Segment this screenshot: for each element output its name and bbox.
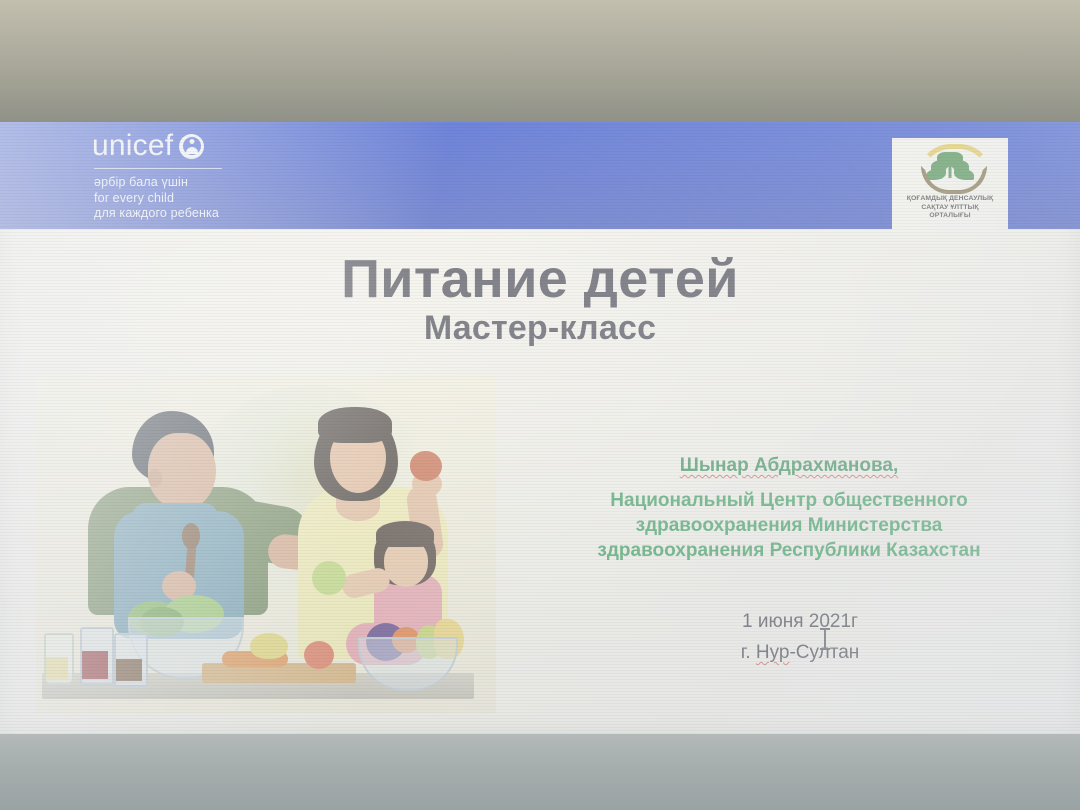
- date-line-wrap: 1 июня 2021г: [600, 608, 1000, 635]
- presentation-slide[interactable]: unicef әрбір бала үшін for every child д…: [0, 122, 1080, 734]
- city-name-misspelled: Нур: [756, 642, 790, 663]
- family-cooking-illustration: [36, 375, 496, 713]
- wall-above-screen: [0, 0, 1080, 126]
- slide-header-band: unicef әрбір бала үшін for every child д…: [0, 122, 1080, 229]
- author-affiliation: Национальный Центр общественного здравоо…: [546, 488, 1032, 563]
- photographed-screen-scene: unicef әрбір бала үшін for every child д…: [0, 0, 1080, 810]
- partner-logo-line2: САҚТАУ ҰЛТТЫҚ: [895, 204, 1005, 213]
- affiliation-line-3: здравоохранения Республики Казахстан: [546, 538, 1032, 563]
- presentation-city: г. Нур-Султан: [600, 639, 1000, 666]
- unicef-divider-rule: [94, 168, 222, 169]
- author-name: Шынар Абдрахманова,: [680, 454, 899, 478]
- slide-title: Питание детей: [0, 250, 1080, 308]
- presentation-date: 1 июня 2021г: [742, 608, 858, 635]
- desk-below-screen: [0, 728, 1080, 810]
- affiliation-line-2: здравоохранения Министерства: [546, 513, 1032, 538]
- author-block: Шынар Абдрахманова, Национальный Центр о…: [546, 454, 1032, 563]
- city-prefix: г.: [741, 642, 756, 663]
- unicef-tagline-ru: для каждого ребенка: [94, 206, 332, 222]
- unicef-wordmark: unicef: [92, 131, 173, 161]
- partner-logo-card: ҚОҒАМДЫҚ ДЕНСАУЛЫҚ САҚТАУ ҰЛТТЫҚ ОРТАЛЫҒ…: [892, 138, 1008, 232]
- partner-logo-line3: ОРТАЛЫҒЫ: [895, 212, 1005, 221]
- unicef-wordline: unicef: [92, 128, 332, 164]
- partner-logo-text: ҚОҒАМДЫҚ ДЕНСАУЛЫҚ САҚТАУ ҰЛТТЫҚ ОРТАЛЫҒ…: [895, 195, 1005, 221]
- unicef-tagline-kk: әрбір бала үшін: [94, 175, 332, 191]
- date-location-block: 1 июня 2021г г. Нур-Султан: [600, 608, 1000, 666]
- city-name-rest: -Султан: [789, 642, 859, 663]
- unicef-tagline-en: for every child: [94, 191, 332, 207]
- affiliation-line-1: Национальный Центр общественного: [546, 488, 1032, 513]
- partner-logo-line1: ҚОҒАМДЫҚ ДЕНСАУЛЫҚ: [895, 195, 1005, 204]
- slide-subtitle: Мастер-класс: [0, 308, 1080, 348]
- author-name-wrap: Шынар Абдрахманова,: [546, 454, 1032, 478]
- un-globe-icon: [179, 134, 204, 159]
- tree-in-bowl-icon: [913, 142, 987, 194]
- unicef-logo: unicef әрбір бала үшін for every child д…: [92, 128, 332, 222]
